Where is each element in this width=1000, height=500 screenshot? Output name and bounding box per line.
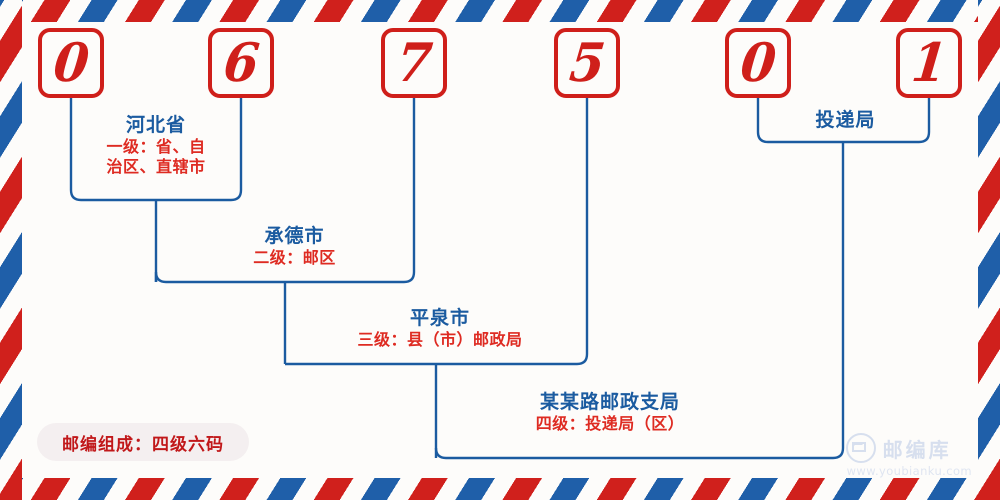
group-subtitle: 四级：投递局（区） xyxy=(460,414,760,434)
group-title: 投递局 xyxy=(768,108,923,132)
group-title: 某某路邮政支局 xyxy=(460,390,760,414)
summary-badge: 邮编组成：四级六码 xyxy=(37,423,249,461)
airmail-border-left xyxy=(0,0,22,500)
digit-glyph: 5 xyxy=(567,37,607,90)
summary-badge-text: 邮编组成：四级六码 xyxy=(62,430,224,455)
postcode-diagram: 0 6 7 5 0 1 河北省 一级：省、自 治区、直辖市 承德市 二级：邮区 … xyxy=(0,0,1000,500)
digit-glyph: 0 xyxy=(51,37,91,90)
airmail-border-top xyxy=(0,0,1000,22)
watermark-name: 邮编库 xyxy=(883,434,952,463)
digit-box-5[interactable]: 0 xyxy=(725,28,791,98)
group-subtitle-line1: 一级：省、自 xyxy=(76,137,236,157)
group-title: 平泉市 xyxy=(300,306,580,330)
group-subtitle: 三级：县（市）邮政局 xyxy=(300,330,580,350)
digit-glyph: 7 xyxy=(394,37,434,90)
digit-box-3[interactable]: 7 xyxy=(381,28,447,98)
digit-box-4[interactable]: 5 xyxy=(554,28,620,98)
group-subtitle-line2: 治区、直辖市 xyxy=(76,157,236,177)
watermark: 邮编库 www.youbianku.com xyxy=(846,433,972,478)
group-label-delivery-office: 投递局 xyxy=(768,108,923,132)
group-label-level-1: 河北省 一级：省、自 治区、直辖市 xyxy=(76,113,236,177)
digit-box-2[interactable]: 6 xyxy=(208,28,274,98)
group-title: 河北省 xyxy=(76,113,236,137)
digit-glyph: 6 xyxy=(221,37,261,90)
group-title: 承德市 xyxy=(182,224,407,248)
group-subtitle: 二级：邮区 xyxy=(182,248,407,268)
digit-glyph: 0 xyxy=(738,37,778,90)
watermark-url: www.youbianku.com xyxy=(847,464,972,478)
digit-box-6[interactable]: 1 xyxy=(896,28,962,98)
airmail-border-right xyxy=(978,0,1000,500)
digit-box-1[interactable]: 0 xyxy=(38,28,104,98)
group-label-level-2: 承德市 二级：邮区 xyxy=(182,224,407,268)
group-label-level-4: 某某路邮政支局 四级：投递局（区） xyxy=(460,390,760,434)
group-label-level-3: 平泉市 三级：县（市）邮政局 xyxy=(300,306,580,350)
digit-glyph: 1 xyxy=(909,37,949,90)
airmail-border-bottom xyxy=(0,478,1000,500)
envelope-circle-icon xyxy=(846,433,876,463)
